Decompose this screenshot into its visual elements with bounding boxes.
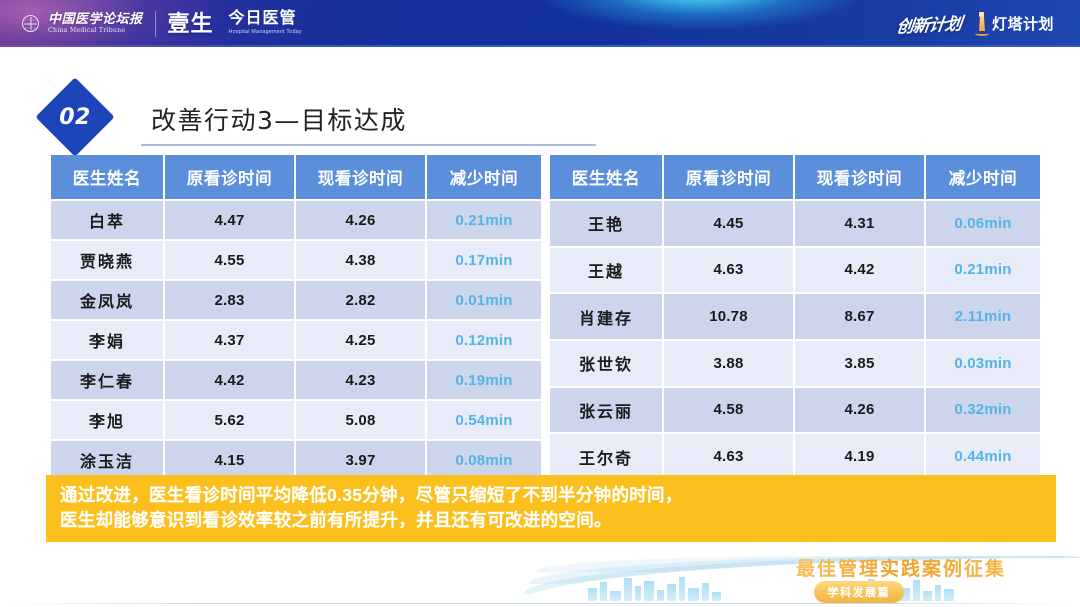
- chuangxin-plan-logo: 创新计划: [895, 9, 963, 37]
- yisheng-logo: 壹生: [168, 13, 214, 35]
- brand-right-group: 创新计划 灯塔计划: [897, 0, 1054, 47]
- hmt-english-name: Hospital Management Today: [229, 30, 302, 35]
- cell-before-time: 4.37: [165, 321, 294, 359]
- cell-doctor-name: 白萃: [51, 201, 163, 239]
- doctor-time-tables: 医生姓名 原看诊时间 现看诊时间 减少时间 白萃4.474.260.21min …: [49, 153, 1033, 481]
- cell-doctor-name: 王尔奇: [550, 434, 662, 479]
- table-header-row: 医生姓名 原看诊时间 现看诊时间 减少时间: [550, 155, 1040, 199]
- cell-doctor-name: 王艳: [550, 201, 662, 246]
- column-header-name: 医生姓名: [550, 155, 662, 199]
- table-row: 李仁春4.424.230.19min: [51, 361, 541, 399]
- table-row: 李娟4.374.250.12min: [51, 321, 541, 359]
- cell-after-time: 4.42: [795, 248, 924, 293]
- hmt-chinese-name: 今日医管: [229, 11, 302, 27]
- column-header-delta: 减少时间: [926, 155, 1040, 199]
- cell-reduced-time: 0.21min: [427, 201, 541, 239]
- cell-before-time: 4.63: [664, 248, 793, 293]
- doctor-table-left: 医生姓名 原看诊时间 现看诊时间 减少时间 白萃4.474.260.21min …: [49, 153, 543, 481]
- table-row: 王越4.634.420.21min: [550, 248, 1040, 293]
- slide-body: 02 改善行动3—目标达成 医生姓名 原看诊时间 现看诊时间 减少时间 白萃4.…: [0, 47, 1080, 607]
- cell-reduced-time: 2.11min: [926, 294, 1040, 339]
- column-header-before: 原看诊时间: [664, 155, 793, 199]
- table-row: 张世钦3.883.850.03min: [550, 341, 1040, 386]
- cell-doctor-name: 李旭: [51, 401, 163, 439]
- section-heading: 02 改善行动3—目标达成: [47, 87, 567, 149]
- column-header-name: 医生姓名: [51, 155, 163, 199]
- cell-after-time: 4.25: [296, 321, 425, 359]
- cell-before-time: 4.47: [165, 201, 294, 239]
- cell-doctor-name: 王越: [550, 248, 662, 293]
- summary-callout: 通过改进，医生看诊时间平均降低0.35分钟，尽管只缩短了不到半分钟的时间， 医生…: [46, 475, 1056, 542]
- cell-doctor-name: 贾晓燕: [51, 241, 163, 279]
- footer-divider: [0, 603, 1080, 604]
- cell-after-time: 4.19: [795, 434, 924, 479]
- summary-line-1: 通过改进，医生看诊时间平均降低0.35分钟，尽管只缩短了不到半分钟的时间，: [60, 483, 1042, 508]
- cell-doctor-name: 张云丽: [550, 388, 662, 433]
- cell-reduced-time: 0.32min: [926, 388, 1040, 433]
- cell-reduced-time: 0.44min: [926, 434, 1040, 479]
- cell-reduced-time: 0.21min: [926, 248, 1040, 293]
- dengta-plan-logo: 灯塔计划: [975, 11, 1054, 36]
- china-medical-tribune-logo: 中国医学论坛报 China Medical Tribune: [48, 13, 143, 35]
- column-header-after: 现看诊时间: [795, 155, 924, 199]
- brand-left-group: 中国医学论坛报 China Medical Tribune 壹生 今日医管 Ho…: [22, 0, 302, 47]
- globe-icon: [22, 15, 39, 32]
- cell-before-time: 4.63: [664, 434, 793, 479]
- cell-doctor-name: 张世钦: [550, 341, 662, 386]
- column-header-after: 现看诊时间: [296, 155, 425, 199]
- doctor-table-right: 医生姓名 原看诊时间 现看诊时间 减少时间 王艳4.454.310.06min …: [548, 153, 1042, 481]
- lighthouse-icon: [975, 11, 989, 36]
- table-row: 肖建存10.788.672.11min: [550, 294, 1040, 339]
- cell-doctor-name: 李仁春: [51, 361, 163, 399]
- table-header-row: 医生姓名 原看诊时间 现看诊时间 减少时间: [51, 155, 541, 199]
- title-underline: [141, 144, 596, 146]
- footer-badge: 学科发展篇: [814, 581, 905, 603]
- section-number: 02: [47, 89, 103, 145]
- table-row: 王艳4.454.310.06min: [550, 201, 1040, 246]
- cell-before-time: 5.62: [165, 401, 294, 439]
- cell-after-time: 4.26: [795, 388, 924, 433]
- table-row: 贾晓燕4.554.380.17min: [51, 241, 541, 279]
- cell-reduced-time: 0.06min: [926, 201, 1040, 246]
- cell-after-time: 4.31: [795, 201, 924, 246]
- cell-before-time: 3.88: [664, 341, 793, 386]
- table-row: 王尔奇4.634.190.44min: [550, 434, 1040, 479]
- cell-after-time: 4.23: [296, 361, 425, 399]
- table-row: 涂玉洁4.153.970.08min: [51, 441, 541, 479]
- cell-after-time: 4.26: [296, 201, 425, 239]
- cell-doctor-name: 金凤岚: [51, 281, 163, 319]
- summary-line-2: 医生却能够意识到看诊效率较之前有所提升，并且还有可改进的空间。: [60, 508, 1042, 533]
- cell-doctor-name: 李娟: [51, 321, 163, 359]
- cell-after-time: 3.85: [795, 341, 924, 386]
- page-title: 改善行动3—目标达成: [151, 101, 407, 137]
- cell-after-time: 5.08: [296, 401, 425, 439]
- column-header-before: 原看诊时间: [165, 155, 294, 199]
- cell-after-time: 2.82: [296, 281, 425, 319]
- table-row: 张云丽4.584.260.32min: [550, 388, 1040, 433]
- table-row: 白萃4.474.260.21min: [51, 201, 541, 239]
- brand-header-bar: 中国医学论坛报 China Medical Tribune 壹生 今日医管 Ho…: [0, 0, 1080, 47]
- cell-after-time: 8.67: [795, 294, 924, 339]
- cell-before-time: 4.42: [165, 361, 294, 399]
- dengta-plan-label: 灯塔计划: [992, 13, 1054, 34]
- cell-reduced-time: 0.54min: [427, 401, 541, 439]
- slide-footer: 最佳管理实践案例征集 学科发展篇: [0, 547, 1080, 607]
- cmt-chinese-name: 中国医学论坛报: [48, 13, 143, 26]
- cell-before-time: 4.58: [664, 388, 793, 433]
- cell-reduced-time: 0.01min: [427, 281, 541, 319]
- cell-doctor-name: 肖建存: [550, 294, 662, 339]
- footer-title: 最佳管理实践案例征集: [796, 554, 1006, 581]
- cell-reduced-time: 0.08min: [427, 441, 541, 479]
- column-header-delta: 减少时间: [427, 155, 541, 199]
- cell-after-time: 4.38: [296, 241, 425, 279]
- cell-before-time: 4.55: [165, 241, 294, 279]
- cell-reduced-time: 0.19min: [427, 361, 541, 399]
- cell-before-time: 2.83: [165, 281, 294, 319]
- brand-divider: [155, 11, 156, 37]
- cell-reduced-time: 0.03min: [926, 341, 1040, 386]
- cell-before-time: 4.15: [165, 441, 294, 479]
- cell-before-time: 10.78: [664, 294, 793, 339]
- cell-doctor-name: 涂玉洁: [51, 441, 163, 479]
- cell-after-time: 3.97: [296, 441, 425, 479]
- hospital-management-today-logo: 今日医管 Hospital Management Today: [229, 11, 302, 35]
- cell-before-time: 4.45: [664, 201, 793, 246]
- cell-reduced-time: 0.17min: [427, 241, 541, 279]
- cell-reduced-time: 0.12min: [427, 321, 541, 359]
- table-row: 李旭5.625.080.54min: [51, 401, 541, 439]
- table-row: 金凤岚2.832.820.01min: [51, 281, 541, 319]
- cmt-english-name: China Medical Tribune: [48, 28, 143, 34]
